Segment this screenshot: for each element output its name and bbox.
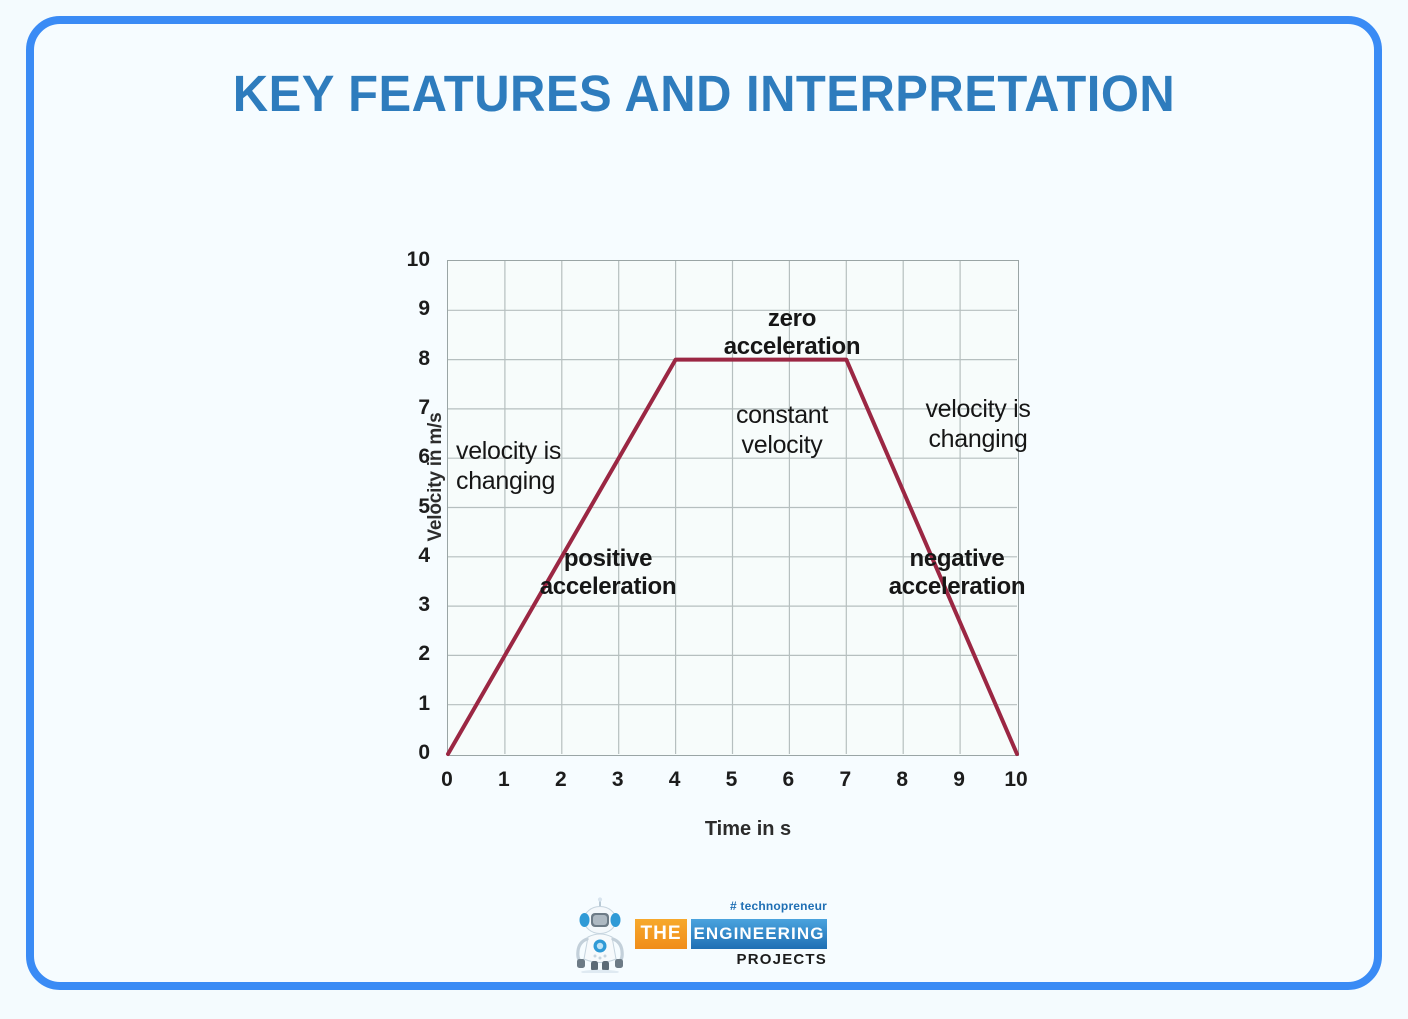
y-tick-label: 4: [386, 544, 430, 568]
logo-tagline: # technopreneur: [691, 899, 827, 913]
x-tick-label: 8: [882, 768, 922, 792]
y-tick-label: 5: [386, 495, 430, 519]
x-tick-label: 5: [712, 768, 752, 792]
annotation-constant-velocity: constant velocity: [682, 401, 882, 460]
x-axis-title: Time in s: [448, 818, 1048, 841]
y-tick-label: 6: [386, 445, 430, 469]
x-tick-label: 7: [825, 768, 865, 792]
x-tick-label: 2: [541, 768, 581, 792]
velocity-time-chart: Velocity in m/s Time in s 012345678910 0…: [352, 234, 1052, 854]
x-tick-label: 1: [484, 768, 524, 792]
slide-canvas: KEY FEATURES AND INTERPRETATION Velocity…: [0, 0, 1408, 1019]
annotation-negative-acceleration: negative acceleration: [842, 545, 1072, 602]
y-tick-label: 9: [386, 297, 430, 321]
logo-word-projects: PROJECTS: [691, 951, 827, 968]
x-tick-label: 6: [768, 768, 808, 792]
annotation-velocity-changing-left: velocity is changing: [456, 437, 646, 496]
y-tick-label: 2: [386, 642, 430, 666]
page-title: KEY FEATURES AND INTERPRETATION: [28, 64, 1380, 123]
y-tick-label: 3: [386, 593, 430, 617]
plot-area: velocity is changing positive accelerati…: [447, 260, 1019, 756]
x-tick-label: 4: [655, 768, 695, 792]
logo-word-engineering: ENGINEERING: [691, 919, 827, 949]
y-tick-label: 8: [386, 347, 430, 371]
x-tick-label: 9: [939, 768, 979, 792]
y-axis-tick-labels: 012345678910: [386, 234, 430, 754]
y-tick-label: 1: [386, 692, 430, 716]
annotation-positive-acceleration: positive acceleration: [498, 545, 718, 602]
y-tick-label: 10: [386, 248, 430, 272]
logo-word-the: THE: [635, 919, 687, 949]
x-axis-tick-labels: 012345678910: [447, 768, 1027, 802]
brand-logo: # technopreneur THE ENGINEERING PROJECTS: [571, 895, 831, 975]
annotation-zero-acceleration: zero acceleration: [682, 305, 902, 362]
x-tick-label: 0: [427, 768, 467, 792]
y-tick-label: 0: [386, 741, 430, 765]
y-tick-label: 7: [386, 396, 430, 420]
x-tick-label: 3: [598, 768, 638, 792]
robot-mascot-icon: [571, 897, 629, 973]
x-tick-label: 10: [996, 768, 1036, 792]
annotation-velocity-changing-right: velocity is changing: [878, 395, 1078, 454]
